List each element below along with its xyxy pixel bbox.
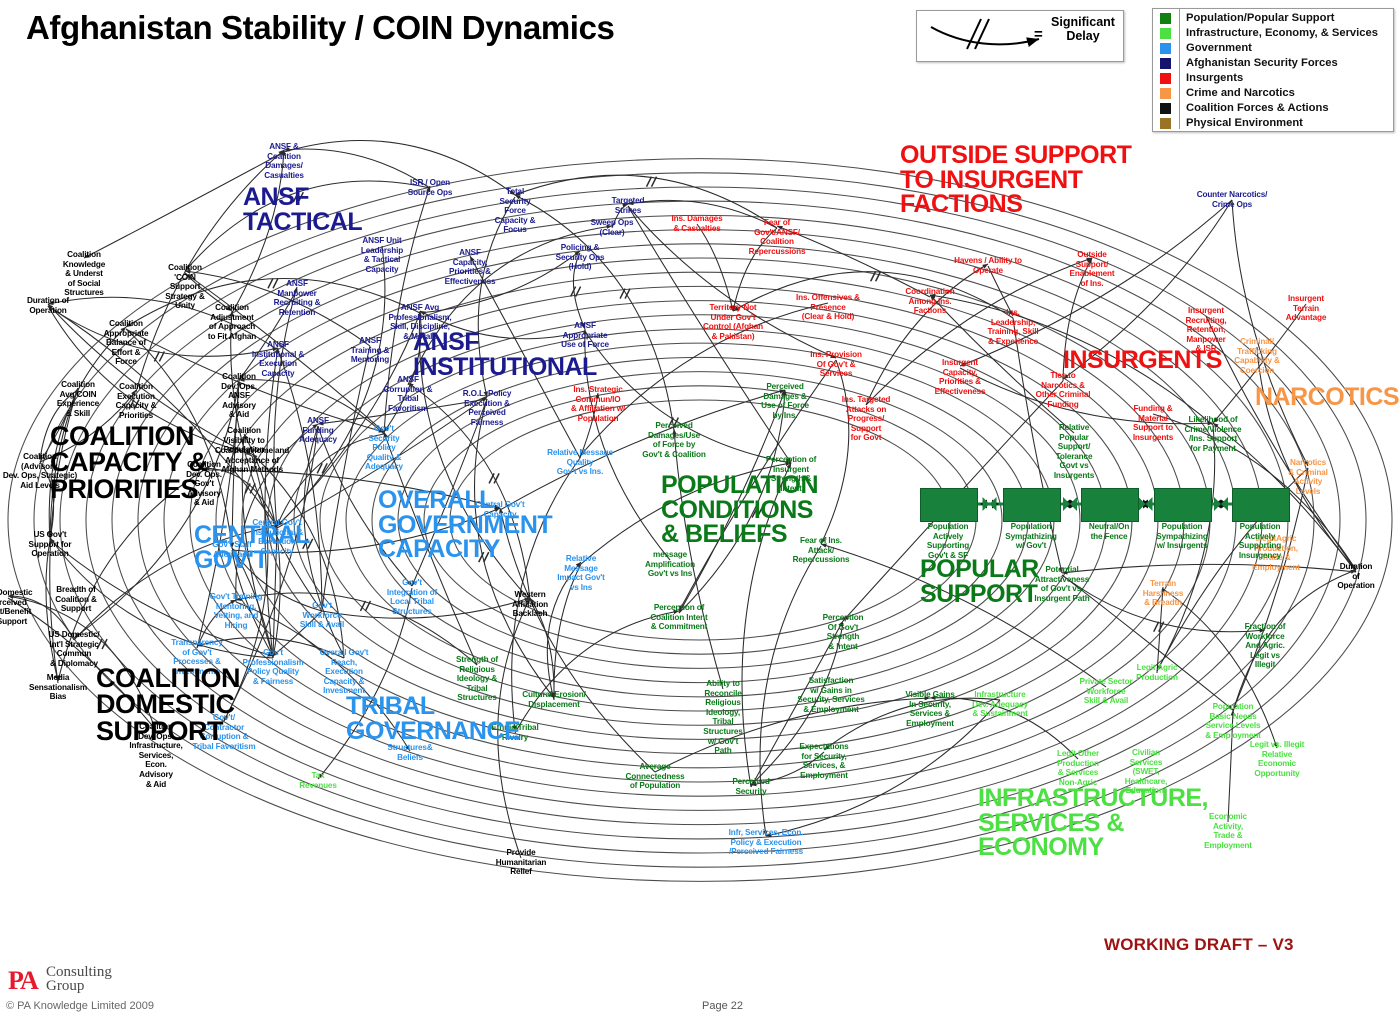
significant-delay-mark	[250, 483, 255, 493]
causal-node-label: ANSFFundingAdequacy	[290, 416, 346, 445]
node-label-line: Of Gov't &	[817, 360, 856, 369]
causal-node-label: Perception ofCoalition Intent& Commitmen…	[641, 603, 717, 632]
node-label-line: (Clear & Hold)	[802, 312, 855, 321]
population-stock-label-line: Population	[928, 522, 969, 531]
node-label-line: Quality &	[367, 453, 402, 462]
node-label-line: Western	[514, 590, 545, 599]
node-label-line: Perceived	[766, 382, 803, 391]
node-label-line: for Govt	[851, 433, 882, 442]
pa-logo-word-line2: Group	[46, 978, 84, 994]
population-stock-box	[1081, 488, 1139, 522]
causal-node-label: Havens / Ability toOperate	[942, 256, 1034, 275]
node-label-line: Coalition	[227, 426, 261, 435]
node-label-line: Ins. Strategic	[573, 385, 622, 394]
node-label-line: Avg COIN	[60, 390, 97, 399]
node-label-line: Adjustment	[210, 313, 254, 322]
node-label-line: Control (Afghan	[703, 322, 763, 331]
population-stock-label: PopulationSympathizingw/ Insurgents	[1146, 522, 1218, 551]
node-label-line: Relative Message	[547, 448, 613, 457]
node-label-line: Effectiveness	[935, 387, 986, 396]
node-label-line: Legit vs	[1250, 651, 1280, 660]
node-label-line: Repercussions	[793, 555, 850, 564]
node-label-line: Insurgents	[1054, 471, 1094, 480]
node-label-line: Harshness	[1143, 589, 1184, 598]
causal-node-label: Ability toReconcileReligiousIdeology,Tri…	[697, 679, 749, 756]
causal-node-label: WesternAffiliationBacklash	[503, 590, 557, 619]
sector-heading-line: SUPPORT	[920, 580, 1037, 608]
causal-node-label: ANSFCorruption &TribalFavoritism	[377, 375, 439, 413]
node-label-line: /Perceived Fairness	[729, 847, 803, 856]
node-label-line: Gov't	[263, 648, 283, 657]
node-label-line: by Ins.	[773, 411, 798, 420]
population-stock-label-line: Gov't & SF	[928, 551, 968, 560]
causal-node-label: Infr, Services, Econ.Policy & Execution/…	[714, 828, 818, 857]
population-stock-box	[1232, 488, 1290, 522]
sector-heading-line: PRIORITIES	[50, 474, 198, 504]
causal-node-label: ANSFCapacity,Priorities &Effectiveness	[438, 248, 502, 286]
node-label-line: Security	[735, 787, 766, 796]
node-label-line: Activity,	[1213, 822, 1243, 831]
population-stock-label-line: Supporting	[927, 541, 969, 550]
node-label-line: US Gov't	[33, 530, 66, 539]
population-stock-label-line: w/ Insurgents	[1157, 541, 1208, 550]
node-label-line: Recruiting,	[1185, 316, 1226, 325]
node-label-line: (Hold)	[569, 262, 592, 271]
node-label-line: Insurgents	[1133, 433, 1173, 442]
causal-node-label: Relative MessageQualityGov't vs Ins.	[547, 448, 613, 477]
node-label-line: Support	[851, 424, 881, 433]
node-label-line: Commun	[57, 649, 92, 658]
causal-node-label: InsurgentCapacity,Priorities &Effectiven…	[927, 358, 993, 396]
causal-node-label: Gov'tSecurityPolicyQuality &Adequacy	[360, 424, 408, 472]
node-label-line: Trade &	[1214, 831, 1243, 840]
node-label-line: Support	[61, 604, 91, 613]
node-label-line: Int'l Strategic	[49, 640, 98, 649]
node-label-line: of Approach	[209, 322, 255, 331]
node-label-line: Coercion	[1240, 366, 1274, 375]
node-label-line: for Payment	[1190, 444, 1236, 453]
node-label-line: Gov't Training	[210, 592, 263, 601]
node-label-line: Path	[714, 746, 731, 755]
node-label-line: Ins.	[1006, 308, 1020, 317]
node-label-line: Potential	[1045, 565, 1078, 574]
node-label-line: Operation	[31, 549, 68, 558]
causal-node-label: Sweep Ops(Clear)	[583, 218, 641, 237]
node-label-line: Ability to	[706, 679, 740, 688]
causal-node-label: Ins. StrategicCommun/IO& Affiliation w/P…	[561, 385, 635, 423]
node-label-line: Coalition &	[55, 595, 97, 604]
causal-node-label: CoalitionDev. Ops.ANSFAdvisory& Aid	[212, 372, 266, 420]
node-label-line: Coalition	[109, 319, 143, 328]
node-label-line: Narcotics &	[1041, 381, 1085, 390]
node-label-line: Total	[506, 187, 524, 196]
node-label-line: w/ Gov't	[708, 737, 738, 746]
sector-heading-line: INSURGENTS	[1063, 346, 1222, 374]
node-label-line: Funding	[302, 426, 333, 435]
node-label-line: Coalition	[168, 263, 202, 272]
node-label-line: Terrain	[1150, 579, 1176, 588]
significant-delay-mark	[647, 177, 652, 187]
causal-node-label: CoalitionAdjustmentof Approachto Fit Afg…	[199, 303, 265, 341]
node-label-line: Damages &	[763, 392, 806, 401]
node-label-line: Source Ops	[408, 188, 452, 197]
node-label-line: Progress/	[848, 414, 884, 423]
node-label-line: & Services	[1058, 768, 1098, 777]
node-label-line: Unity	[175, 301, 195, 310]
causal-node-label: messageAmplificationGov't vs Ins	[637, 550, 703, 579]
node-label-line: Infr, Services, Econ.	[729, 828, 804, 837]
node-label-line: Security, Services	[797, 695, 864, 704]
node-label-line: Gov't	[402, 578, 422, 587]
population-stock-label: PopulationActivelySupportingInsurgency	[1224, 522, 1296, 560]
population-stock-label-line: Actively	[1245, 532, 1275, 541]
node-label-line: Coalition Intent	[650, 613, 707, 622]
causal-node-label: CoalitionKnowledge& Understof SocialStru…	[55, 250, 113, 298]
causal-node-label: TotalSecurityForceCapacity &Focus	[489, 187, 541, 235]
node-label-line: Policy Quality	[247, 667, 299, 676]
node-label-line: Acceptance of	[225, 456, 279, 465]
node-label-line: & Commitment	[651, 622, 707, 631]
causal-node-label: DurationofOperation	[1334, 562, 1378, 591]
node-label-line: Coalition	[222, 372, 256, 381]
node-label-line: Perceived	[655, 421, 692, 430]
causal-node-label: Ins. Offensives &Presence(Clear & Hold)	[790, 293, 866, 322]
causal-node-label: Gov't TrainingMentoring,Vetting, andHiri…	[202, 592, 270, 630]
node-label-line: Services, &	[803, 761, 846, 770]
causal-node-label: US Gov'tSupport forOperation	[19, 530, 81, 559]
sector-heading: POPULARSUPPORT	[920, 557, 1039, 606]
node-label-line: US Domestic/	[49, 630, 100, 639]
causal-node-label: Fraction ofWorkforceAnd Agric.Legit vsIl…	[1235, 622, 1295, 670]
node-label-line: Employment	[906, 719, 954, 728]
node-label-line: Religious	[705, 698, 741, 707]
node-label-line: Execution	[325, 667, 363, 676]
node-label-line: ANSF	[459, 248, 481, 257]
node-label-line: Training, Skill	[988, 327, 1039, 336]
population-stock-label-line: Supporting	[1239, 541, 1281, 550]
node-label-line: Legit vs. Illegit	[1250, 740, 1304, 749]
node-label-line: Structures	[703, 727, 742, 736]
node-label-line: & Underst	[65, 269, 103, 278]
node-label-line: Media	[47, 673, 69, 682]
node-label-line: Workforce	[303, 611, 342, 620]
node-label-line: & Tactical	[364, 255, 401, 264]
population-stock-box	[1154, 488, 1212, 522]
node-label-line: Territory Not	[709, 303, 756, 312]
population-stock-label-line: w/ Gov't	[1016, 541, 1046, 550]
node-label-line: Advisory	[139, 770, 173, 779]
node-label-line: Likelihood of	[1189, 415, 1238, 424]
causal-node-label: CoalitionExecutionCapacity &Priorities	[107, 382, 165, 420]
node-label-line: of	[1352, 572, 1359, 581]
node-label-line: Services &	[910, 709, 950, 718]
node-label-line: Counter Narcotics/	[1197, 190, 1268, 199]
copyright-notice: © PA Knowledge Limited 2009	[6, 1000, 154, 1012]
population-stock-label-line: Sympathizing	[1005, 532, 1056, 541]
node-label-line: Satisfaction	[809, 676, 854, 685]
node-label-line: Priorities	[119, 411, 153, 420]
causal-node-label: Legit OtherProduction& ServicesNon-Agric	[1048, 749, 1108, 787]
node-label-line: Damages/	[265, 161, 302, 170]
causal-node-label: ANSF UnitLeadership& TacticalCapacity	[352, 236, 412, 274]
node-label-line: Fraction of	[1245, 622, 1286, 631]
node-label-line: Strength	[827, 632, 859, 641]
node-label-line: US Domestic	[0, 588, 32, 597]
node-label-line: to Fit Afghan	[208, 332, 256, 341]
node-label-line: Fear of	[764, 218, 790, 227]
node-label-line: Casualties	[264, 171, 303, 180]
node-label-line: Attack/	[808, 546, 834, 555]
node-label-line: In Security,	[909, 700, 951, 709]
node-label-line: Focus	[503, 225, 526, 234]
causal-node-label: Legit vs. IllegitRelativeEconomicOpportu…	[1241, 740, 1313, 778]
working-draft-label: WORKING DRAFT – V3	[1104, 935, 1294, 955]
node-label-line: Commun/IO	[575, 395, 620, 404]
node-label-line: Crime Ops	[1212, 200, 1252, 209]
node-label-line: Knowledge	[63, 260, 105, 269]
population-stock-label-line: Population	[1240, 522, 1281, 531]
node-label-line: Corruption &	[384, 385, 433, 394]
node-label-line: Attacks on	[846, 405, 886, 414]
causal-node-label: CoordinationAmong Ins.Factions	[898, 287, 962, 316]
node-label-line: Illegit	[1255, 660, 1275, 669]
node-label-line: of Gov't vs.	[1041, 584, 1083, 593]
node-label-line: Execution &	[464, 399, 510, 408]
node-label-line: Tolerance	[1056, 452, 1093, 461]
node-label-line: Execution	[259, 359, 297, 368]
node-label-line: Ideology,	[706, 708, 740, 717]
node-label-line: Visibility to	[223, 436, 265, 445]
node-label-line: Connectedness	[625, 772, 684, 781]
node-label-line: Leadership,	[991, 318, 1035, 327]
causal-node-label: Policing &Security Ops(Hold)	[548, 243, 612, 272]
node-label-line: Opportunity	[1254, 769, 1299, 778]
causal-node-label: InsurgentTerrainAdvantage	[1275, 294, 1337, 323]
node-label-line: Professionalism,	[388, 313, 451, 322]
node-label-line: Mentoring	[351, 355, 389, 364]
sector-heading-line: & BELIEFS	[661, 520, 787, 548]
node-label-line: ANSF	[574, 321, 596, 330]
population-stock-label: Neutral/Onthe Fence	[1073, 522, 1145, 541]
node-label-line: w/ Gains in	[810, 686, 852, 695]
causal-node-label: Satisfactionw/ Gains inSecurity, Service…	[788, 676, 874, 714]
node-label-line: Ideology &	[457, 674, 497, 683]
node-label-line: Security Ops	[556, 253, 605, 262]
node-label-line: Coalition	[267, 152, 301, 161]
sector-heading: INSURGENTS	[1063, 348, 1222, 373]
node-label-line: Among Ins.	[908, 297, 951, 306]
node-label-line: Under Gov't	[711, 313, 756, 322]
node-label-line: Perceived	[0, 598, 27, 607]
node-label-line: Coalition	[119, 382, 153, 391]
node-label-line: Operation	[29, 306, 66, 315]
node-label-line: Message	[564, 564, 598, 573]
causal-node-label: Legit AgricProduction	[1128, 663, 1186, 682]
causal-node-label: R.O.L. PolicyExecution &PerceivedFairnes…	[454, 389, 520, 427]
node-label-line: Insurgent	[942, 358, 978, 367]
population-stock-label-line: the Fence	[1091, 532, 1128, 541]
node-label-line: Duration of	[27, 296, 69, 305]
node-label-line: ANSF &	[269, 142, 299, 151]
node-label-line: Dev. Ops.	[221, 382, 257, 391]
causal-node-label: AverageConnectednessof Population	[616, 762, 694, 791]
node-label-line: of Gov't	[182, 648, 211, 657]
node-label-line: Backlash	[513, 609, 548, 618]
population-stock-box	[920, 488, 978, 522]
node-label-line: Infrastructure	[974, 690, 1025, 699]
node-label-line: Targeted	[612, 196, 645, 205]
pa-logo-mark: PA	[8, 966, 37, 995]
node-label-line: Relief	[510, 867, 531, 876]
sector-heading: POPULATIONCONDITIONS& BELIEFS	[661, 473, 818, 547]
node-label-line: Humanitarian	[496, 858, 547, 867]
node-label-line: Use of Force	[761, 401, 809, 410]
node-label-line: & Fairness	[253, 677, 293, 686]
node-label-line: Activity	[1294, 477, 1322, 486]
causal-node-label: Gov'tProfessionalismPolicy Quality& Fair…	[235, 648, 311, 686]
node-label-line: Visible Gains	[905, 690, 954, 699]
causal-node-label: ANSFTraining &Mentoring	[343, 336, 397, 365]
node-label-line: Skill & Avail	[300, 620, 344, 629]
node-label-line: Affiliation	[512, 600, 548, 609]
causal-node-label: Cultural Erosion/Displacement	[515, 690, 593, 709]
node-label-line: & Pakistan)	[712, 332, 755, 341]
node-label-line: Skill & Avail	[1084, 696, 1128, 705]
node-label-line: Cultural Erosion/	[522, 690, 585, 699]
node-label-line: Insurgent Path	[1034, 594, 1089, 603]
node-label-line: Popular	[1059, 433, 1088, 442]
sector-heading: NARCOTICS	[1255, 385, 1399, 410]
causal-node-label: Coalition/HomelandAcceptance ofAfghan Me…	[205, 446, 299, 475]
node-label-line: ANSF Unit	[362, 236, 401, 245]
node-label-line: Quality	[567, 458, 594, 467]
node-label-line: Tribal	[398, 394, 419, 403]
causal-node-label: Ins. Damages& Casualties	[664, 214, 730, 233]
node-label-line: Displacement	[528, 700, 579, 709]
node-label-line: Recruiting &	[274, 298, 321, 307]
node-label-line: Services	[820, 369, 853, 378]
node-label-line: & Aid	[229, 410, 249, 419]
node-label-line: Manpower	[1186, 335, 1225, 344]
causal-node-label: Expectationsfor Security,Services, &Empl…	[792, 742, 856, 780]
node-label-line: Capacity &	[116, 401, 157, 410]
node-label-line: Ins. Provision	[810, 350, 862, 359]
node-label-line: Beliefs	[397, 753, 423, 762]
node-label-line: Balance of	[106, 338, 146, 347]
node-label-line: Force	[504, 206, 526, 215]
node-label-line: R.O.L. Policy	[463, 389, 512, 398]
node-label-line: Coalition	[760, 237, 794, 246]
node-label-line: Capacity	[366, 265, 399, 274]
node-label-line: Adequacy	[365, 462, 403, 471]
node-label-line: Capability &	[1234, 356, 1280, 365]
node-label-line: Relative	[1262, 750, 1292, 759]
population-stock-label-line: Neutral/On	[1089, 522, 1129, 531]
sector-heading: CENTRALGOV'T	[194, 523, 310, 572]
node-label-line: Trafficking	[1237, 347, 1277, 356]
node-label-line: Narcotics	[1290, 458, 1326, 467]
node-label-line: Crime/Violence	[1185, 425, 1242, 434]
node-label-line: Leadership	[361, 246, 403, 255]
node-label-line: Coalition	[215, 303, 249, 312]
node-label-line: Reconcile	[704, 689, 741, 698]
node-label-line: Population	[1213, 702, 1254, 711]
causal-node-label: PerceivedSecurity	[725, 777, 777, 796]
node-label-line: Perceived	[468, 408, 505, 417]
causal-node-label: PerceptionOf Gov'tStrength& Intent	[814, 613, 872, 651]
node-label-line: Presence	[810, 303, 845, 312]
causal-node-label: RelativePopularSupport/ToleranceGovt vsI…	[1044, 423, 1104, 481]
node-label-line: Capacity,	[943, 368, 977, 377]
node-label-line: Experience	[57, 399, 99, 408]
significant-delay-mark	[489, 473, 494, 483]
node-label-line: Strength of	[456, 655, 498, 664]
causal-node-label: Gov'tWorkforceSkill & Avail	[294, 601, 350, 630]
node-label-line: ANSF	[359, 336, 381, 345]
node-label-line: Capacity &	[324, 677, 365, 686]
node-label-line: Vetting, and	[214, 611, 259, 620]
node-label-line: Damages/Use	[648, 431, 700, 440]
causal-node-label: PerceivedDamages/Useof Force byGov't & C…	[633, 421, 715, 459]
node-label-line: Coalition/Homeland	[215, 446, 289, 455]
causal-link	[697, 224, 733, 311]
node-label-line: Gov't & Coalition	[642, 450, 706, 459]
node-label-line: Effectiveness	[445, 277, 496, 286]
causal-node-label: MediaSensationalismBias	[27, 673, 89, 702]
node-label-line: Employment	[800, 771, 848, 780]
node-label-line: Production	[1136, 673, 1178, 682]
causal-node-label: Visible GainsIn Security,Services &Emplo…	[898, 690, 962, 728]
node-label-line: Expectations	[799, 742, 848, 751]
node-label-line: Gov't	[312, 601, 332, 610]
node-label-line: & Employment	[803, 705, 859, 714]
node-label-line: ISR / Open	[410, 178, 450, 187]
node-label-line: Service Levels	[1206, 721, 1261, 730]
node-label-line: Gov't/ANSF/	[754, 228, 800, 237]
node-label-line: Sensationalism	[29, 683, 87, 692]
node-label-line: Breadth of	[56, 585, 95, 594]
node-label-line: Levels	[1296, 487, 1321, 496]
node-label-line: of Social	[68, 279, 101, 288]
node-label-line: And Agric.	[1245, 641, 1285, 650]
node-label-line: (Clear)	[600, 228, 625, 237]
pa-consulting-logo: PA	[8, 966, 37, 996]
causal-node-label: Territory NotUnder Gov'tControl (Afghan&…	[694, 303, 772, 341]
node-label-line: Criminal/	[1240, 337, 1274, 346]
node-label-line: Legit Other	[1057, 749, 1099, 758]
node-label-line: Coalition	[61, 380, 95, 389]
node-label-line: Outside	[1077, 250, 1106, 259]
pa-logo-wordmark: Consulting Group	[46, 965, 112, 993]
sector-heading: OVERALLGOVERNMENTCAPACITY	[378, 488, 552, 562]
node-label-line: (SWET,	[1133, 767, 1160, 776]
node-label-line: Reach,	[331, 658, 357, 667]
causal-node-label: CoalitionAvg COINExperience& Skill	[48, 380, 108, 418]
node-label-line: Security	[368, 434, 399, 443]
node-label-line: Transparency	[171, 638, 222, 647]
node-label-line: & Intent	[828, 642, 857, 651]
node-label-line: Institutional &	[252, 350, 304, 359]
node-label-line: Duration	[1340, 562, 1372, 571]
node-label-line: Tribal	[713, 717, 734, 726]
sector-heading-line: CAPACITY	[378, 535, 500, 563]
node-label-line: Relative	[1059, 423, 1089, 432]
node-label-line: Other Criminal	[1036, 390, 1091, 399]
node-label-line: Repercussions	[749, 247, 806, 256]
node-label-line: Terrain	[1293, 304, 1319, 313]
population-flow-valve	[983, 497, 997, 511]
node-label-line: of Ins.	[1080, 279, 1103, 288]
